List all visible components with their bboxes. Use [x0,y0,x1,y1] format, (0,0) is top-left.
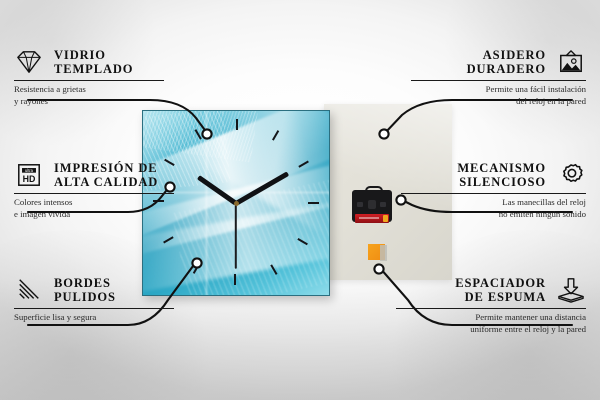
feature-divider [411,80,586,81]
feature-title-line2: DE ESPUMA [455,290,546,304]
feature-bordes-pulidos[interactable]: BORDES PULIDOS Superficie lisa y segura [14,276,174,324]
svg-text:ultra: ultra [25,168,34,173]
feature-divider [14,308,174,309]
feature-description: Colores intensos e imagen vívida [14,197,174,221]
feature-divider [14,80,164,81]
feature-mecanismo-silencioso[interactable]: MECANISMO SILENCIOSO Las manecillas del … [401,161,586,221]
feature-title-line2: ALTA CALIDAD [54,175,158,189]
feature-description: Permite mantener una distancia uniforme … [396,312,586,336]
feature-asidero-duradero[interactable]: ASIDERO DURADERO Permite una fácil insta… [411,48,586,108]
foam-spacer-icon [556,277,586,303]
gear-icon [556,162,586,188]
feature-divider [396,308,586,309]
diamond-icon [14,49,44,75]
feature-espaciador-de-espuma[interactable]: ESPACIADOR DE ESPUMA Permite mantener un… [396,276,586,336]
feature-description: Las manecillas del reloj no emiten ningú… [401,197,586,221]
connector-dot-asidero [379,129,388,138]
connector-dot-espaciador [374,264,383,273]
feature-title-line2: DURADERO [467,62,546,76]
ultra-hd-icon: ultra HD [14,162,44,188]
feature-description: Resistencia a grietas y rayones [14,84,164,108]
feature-description: Superficie lisa y segura [14,312,174,324]
feature-title-line1: IMPRESIÓN DE [54,161,158,175]
feature-impresion-alta-calidad[interactable]: ultra HD IMPRESIÓN DE ALTA CALIDAD Color… [14,161,174,221]
feature-title-line2: SILENCIOSO [457,175,546,189]
connector-dot-vidrio [202,129,211,138]
feature-title-line2: TEMPLADO [54,62,133,76]
feature-title-line1: VIDRIO [54,48,133,62]
hanging-frame-icon [556,49,586,75]
feature-title-line1: ASIDERO [467,48,546,62]
product-infographic: VIDRIO TEMPLADO Resistencia a grietas y … [0,0,600,400]
feature-description: Permite una fácil instalación del reloj … [411,84,586,108]
feature-title-line1: ESPACIADOR [455,276,546,290]
feature-title-line1: BORDES [54,276,116,290]
connector-dot-bordes [192,258,201,267]
feature-title-line1: MECANISMO [457,161,546,175]
polished-edge-icon [14,277,44,303]
feature-vidrio-templado[interactable]: VIDRIO TEMPLADO Resistencia a grietas y … [14,48,164,108]
feature-divider [14,193,174,194]
svg-text:HD: HD [23,174,36,184]
feature-title-line2: PULIDOS [54,290,116,304]
feature-divider [401,193,586,194]
